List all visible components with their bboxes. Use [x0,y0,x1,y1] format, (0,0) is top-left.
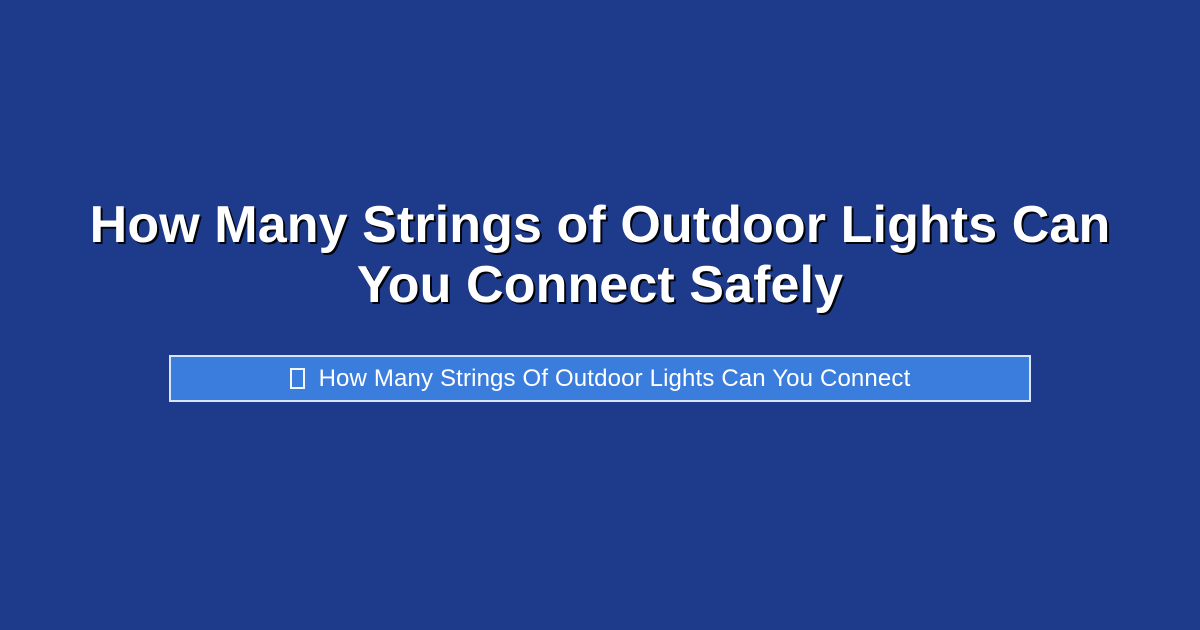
social-share-card: How Many Strings of Outdoor Lights Can Y… [0,0,1200,630]
cta-container: How Many Strings Of Outdoor Lights Can Y… [0,355,1200,402]
cta-button[interactable]: How Many Strings Of Outdoor Lights Can Y… [169,355,1031,402]
headline-container: How Many Strings of Outdoor Lights Can Y… [0,195,1200,315]
missing-glyph-box-icon [290,368,305,389]
page-title: How Many Strings of Outdoor Lights Can Y… [60,195,1140,315]
cta-button-label: How Many Strings Of Outdoor Lights Can Y… [319,367,911,391]
